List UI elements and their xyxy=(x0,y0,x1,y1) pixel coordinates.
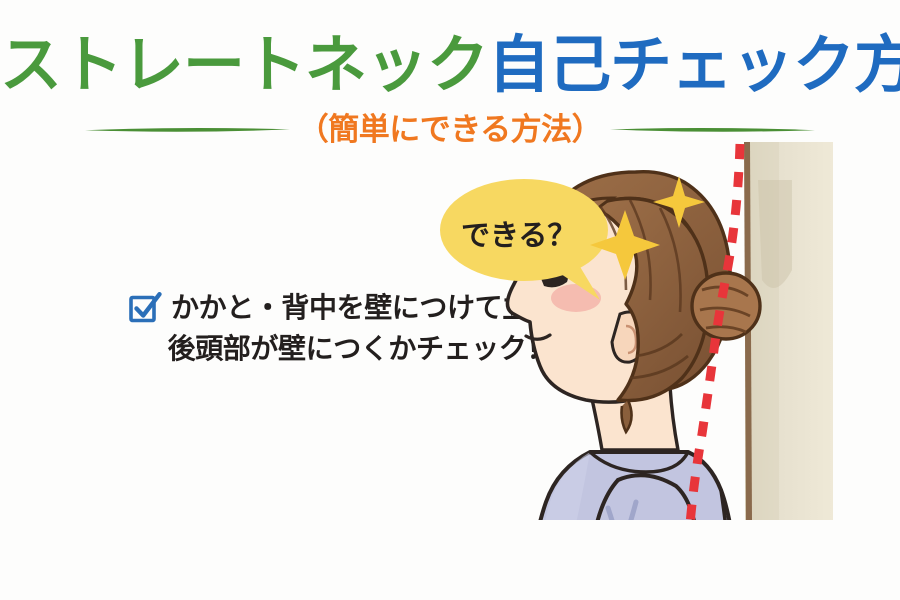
poster-canvas: ストレートネック自己チェック方法 （簡単にできる方法） かかと・背中を壁につけて… xyxy=(0,0,900,600)
wall-graphic xyxy=(744,142,833,520)
body-graphic xyxy=(529,386,740,600)
page-title-green-part: ストレートネック xyxy=(0,28,488,101)
page-subtitle: （簡単にできる方法） xyxy=(298,115,602,146)
left-rule-decoration xyxy=(85,126,290,134)
page-title: ストレートネック自己チェック方法 xyxy=(0,32,900,97)
page-title-blue-part: 自己チェック方法 xyxy=(488,28,900,101)
illustration-woman-profile-against-wall xyxy=(440,150,820,550)
speech-bubble-text: できる？ xyxy=(461,212,576,254)
right-rule-decoration xyxy=(610,126,815,134)
checkbox-checked-icon xyxy=(128,290,162,324)
